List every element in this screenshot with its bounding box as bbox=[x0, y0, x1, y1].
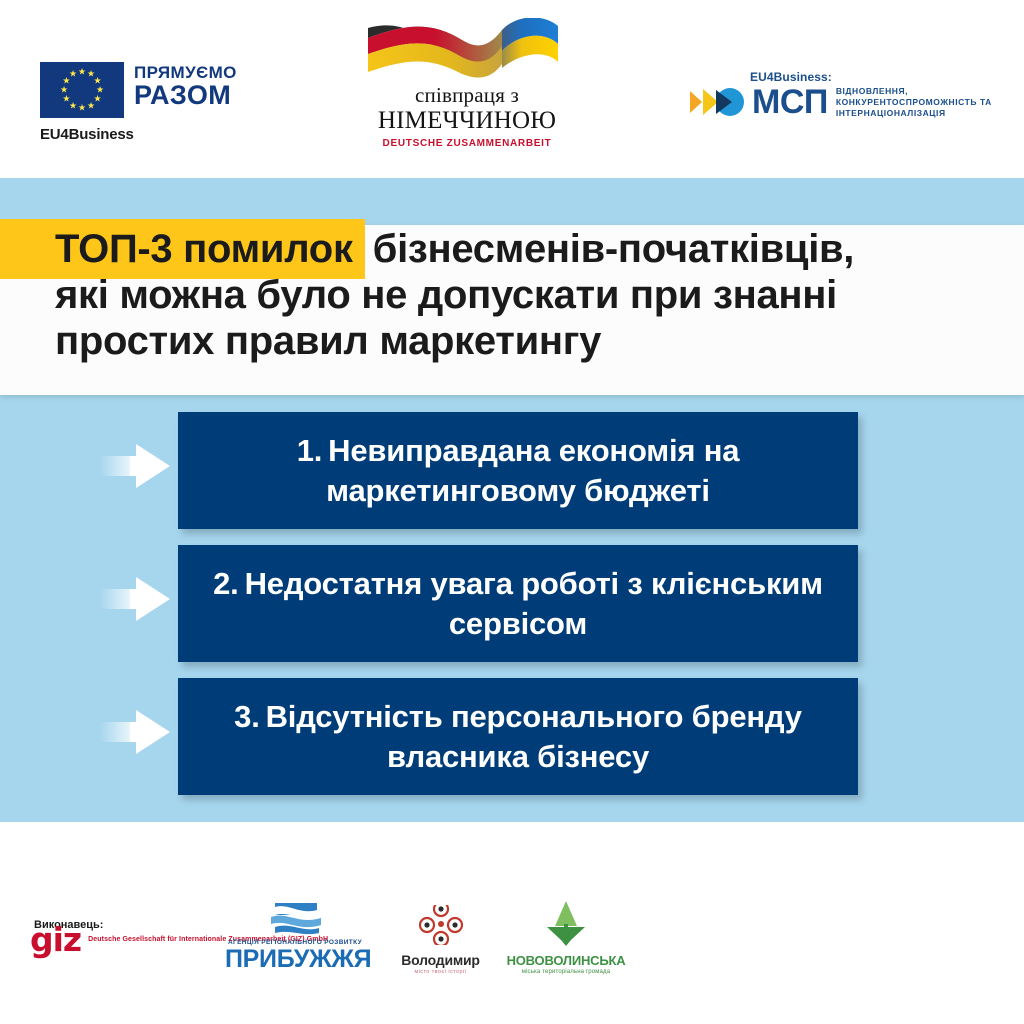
arrow-right-icon bbox=[100, 440, 172, 492]
mistake-box-2: 2.Недостатня увага роботі з клієнським с… bbox=[178, 545, 858, 662]
list-item: 3.Відсутність персонального бренду власн… bbox=[0, 678, 1024, 811]
mistake-text-1: 1.Невиправдана економія на маркетинговом… bbox=[178, 431, 858, 511]
mistake-number-3: 3. bbox=[234, 699, 259, 734]
mistake-number-1: 1. bbox=[297, 433, 322, 468]
novovolynska-wordmark: НОВОВОЛИНСЬКА bbox=[505, 953, 627, 968]
novovolynska-logo: НОВОВОЛИНСЬКА міська територіальна грома… bbox=[505, 900, 627, 975]
eu-star-icon: ★ bbox=[78, 68, 86, 77]
prybuzhzhia-wordmark: ПРИБУЖЖЯ bbox=[225, 946, 365, 972]
eu4business-label: EU4Business bbox=[40, 126, 134, 143]
headline-line-1: ТОП-3 помилокбізнесменів-початківців, bbox=[0, 226, 1000, 272]
arrow-right-icon bbox=[100, 573, 172, 625]
novovolynska-tagline: міська територіальна громада bbox=[505, 969, 627, 975]
prybuzhzhia-logo: АГЕНЦІЯ РЕГІОНАЛЬНОГО РОЗВИТКУ ПРИБУЖЖЯ bbox=[225, 903, 365, 972]
page-title: ТОП-3 помилокбізнесменів-початківців, як… bbox=[0, 226, 1000, 364]
german-cooperation-logo: співпраця з НІМЕЧЧИНОЮ DEUTSCHE ZUSAMMEN… bbox=[352, 18, 582, 149]
eu4business-logo: ★★★★★★★★★★★★ ПРЯМУЄМО РАЗОМ bbox=[40, 62, 237, 118]
mistake-label-3: Відсутність персонального бренду власник… bbox=[266, 699, 802, 774]
headline-highlight: ТОП-3 помилок bbox=[0, 219, 365, 279]
list-item: 1.Невиправдана економія на маркетинговом… bbox=[0, 412, 1024, 545]
eu-logo-wordmark: ПРЯМУЄМО РАЗОМ bbox=[134, 62, 237, 109]
eu-star-icon: ★ bbox=[87, 101, 95, 110]
wave-icon bbox=[265, 903, 325, 937]
mistake-box-1: 1.Невиправдана економія на маркетинговом… bbox=[178, 412, 858, 529]
headline-line-2: які можна було не допускати при знанні bbox=[0, 272, 1000, 318]
eu-star-icon: ★ bbox=[62, 95, 70, 104]
msp-logo: EU4Business: МСП ВІДНОВЛЕННЯ, КОНКУРЕНТО… bbox=[690, 70, 1024, 119]
coop-logo-line3: DEUTSCHE ZUSAMMENARBEIT bbox=[352, 138, 582, 149]
msp-logo-prefix: EU4Business: bbox=[750, 70, 1024, 84]
volodymyr-tagline: місто твоєї історії bbox=[388, 969, 493, 975]
arrow-right-icon bbox=[100, 706, 172, 758]
mistake-number-2: 2. bbox=[213, 566, 238, 601]
msp-arrow-circle-icon bbox=[690, 85, 748, 119]
giz-wordmark: giz bbox=[30, 925, 81, 955]
msp-wordmark: МСП bbox=[752, 85, 828, 119]
mistake-label-1: Невиправдана економія на маркетинговому … bbox=[326, 433, 739, 508]
german-ukraine-ribbon-icon bbox=[352, 18, 582, 80]
eu-logo-line2: РАЗОМ bbox=[134, 82, 237, 109]
header-logo-strip: ★★★★★★★★★★★★ ПРЯМУЄМО РАЗОМ EU4Business bbox=[0, 0, 1024, 178]
coop-logo-line2: НІМЕЧЧИНОЮ bbox=[352, 107, 582, 135]
coop-logo-line1: співпраця з bbox=[352, 83, 582, 108]
eu-star-icon: ★ bbox=[78, 104, 86, 113]
mistake-text-2: 2.Недостатня увага роботі з клієнським с… bbox=[178, 564, 858, 644]
eu-star-icon: ★ bbox=[69, 70, 77, 79]
volodymyr-wordmark: Володимир bbox=[388, 952, 493, 968]
headline-line-3: простих правил маркетингу bbox=[0, 318, 1000, 364]
list-item: 2.Недостатня увага роботі з клієнським с… bbox=[0, 545, 1024, 678]
mistakes-list: 1.Невиправдана економія на маркетинговом… bbox=[0, 412, 1024, 811]
eu-flag-icon: ★★★★★★★★★★★★ bbox=[40, 62, 124, 118]
volodymyr-logo: Володимир місто твоєї історії bbox=[388, 905, 493, 975]
msp-tagline: ВІДНОВЛЕННЯ, КОНКУРЕНТОСПРОМОЖНІСТЬ ТА І… bbox=[836, 86, 1024, 119]
mistake-label-2: Недостатня увага роботі з клієнським сер… bbox=[245, 566, 823, 641]
eu-star-icon: ★ bbox=[60, 86, 68, 95]
eu-logo-line1: ПРЯМУЄМО bbox=[134, 64, 237, 81]
mistake-box-3: 3.Відсутність персонального бренду власн… bbox=[178, 678, 858, 795]
headline-line1-rest: бізнесменів-початківців, bbox=[365, 227, 854, 271]
pine-tree-icon bbox=[539, 900, 593, 946]
ornament-cross-icon bbox=[419, 905, 463, 945]
mistake-text-3: 3.Відсутність персонального бренду власн… bbox=[178, 697, 858, 777]
infographic-page: ★★★★★★★★★★★★ ПРЯМУЄМО РАЗОМ EU4Business bbox=[0, 0, 1024, 1024]
